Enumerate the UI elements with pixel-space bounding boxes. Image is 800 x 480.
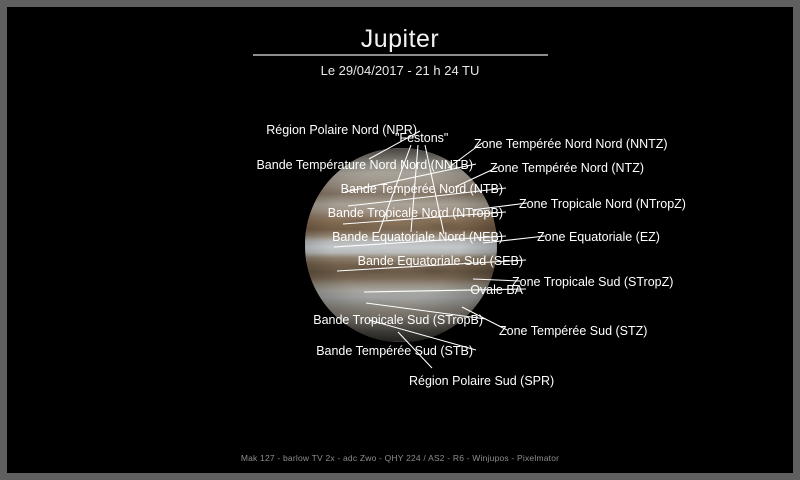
label-nntb: Bande Température Nord Nord (NNTB): [256, 158, 473, 172]
label-spr: Région Polaire Sud (SPR): [409, 374, 554, 388]
label-ntropz: Zone Tropicale Nord (NTropZ): [519, 197, 686, 211]
label-stb: Bande Tempérée Sud (STB): [316, 344, 473, 358]
label-neb: Bande Equatoriale Nord (NEB): [332, 230, 503, 244]
image-canvas: Jupiter Le 29/04/2017 - 21 h 24 TU: [7, 7, 793, 473]
label-festons: "Festons": [395, 131, 448, 145]
page-title: Jupiter: [7, 25, 793, 54]
label-ntb: Bande Tempérée Nord (NTB): [341, 182, 503, 196]
label-seb: Bande Equatoriale Sud (SEB): [358, 254, 523, 268]
equipment-credit: Mak 127 - barlow TV 2x - adc Zwo - QHY 2…: [7, 453, 793, 463]
image-frame: Jupiter Le 29/04/2017 - 21 h 24 TU: [0, 0, 800, 480]
capture-datetime: Le 29/04/2017 - 21 h 24 TU: [7, 63, 793, 78]
label-ntropb: Bande Tropicale Nord (NTropB): [328, 206, 503, 220]
label-ntz: Zone Tempérée Nord (NTZ): [490, 161, 644, 175]
label-stz: Zone Tempérée Sud (STZ): [499, 324, 647, 338]
label-stropz: Zone Tropicale Sud (STropZ): [512, 275, 673, 289]
title-divider: [253, 54, 548, 56]
label-stropb: Bande Tropicale Sud (STropB): [313, 313, 483, 327]
label-nntz: Zone Tempérée Nord Nord (NNTZ): [474, 137, 668, 151]
label-ez: Zone Equatoriale (EZ): [537, 230, 660, 244]
